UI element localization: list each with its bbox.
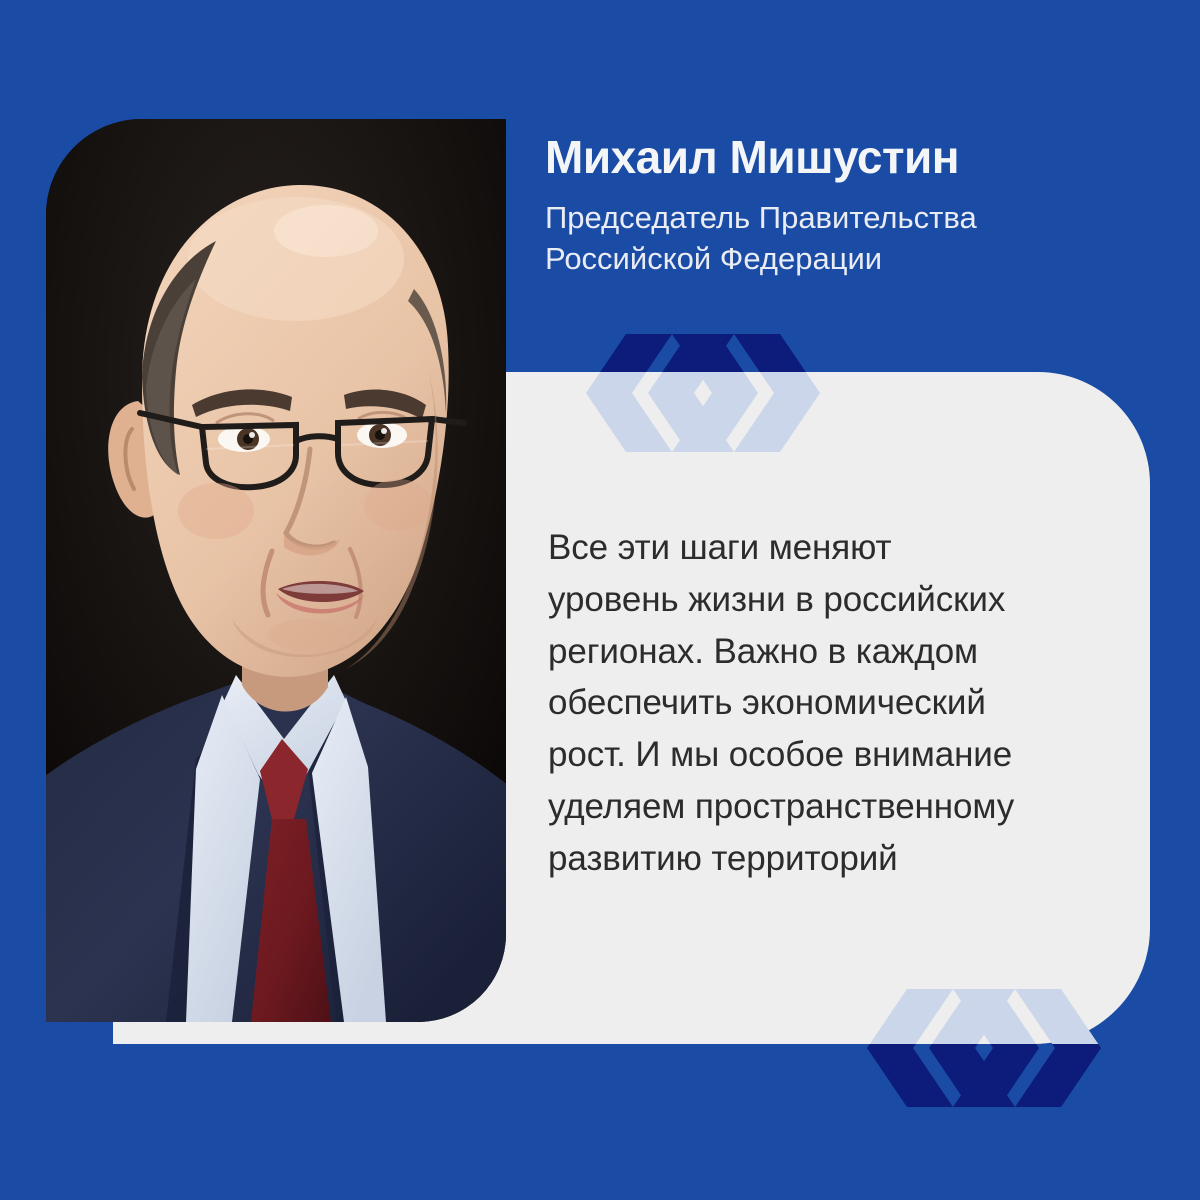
chevron-ornament-top [564,334,834,452]
quote-line-7: развитию территорий [548,833,1108,885]
person-role-line-1: Председатель Правительства [545,197,1145,238]
quote-line-4: обеспечить экономический [548,677,1108,729]
chevron-ornament-bottom [845,989,1115,1107]
quote-line-2: уровень жизни в российских [548,574,1108,626]
social-quote-card: Михаил Мишустин Председатель Правительст… [0,0,1200,1200]
person-role: Председатель Правительства Российской Фе… [545,197,1145,279]
person-role-line-2: Российской Федерации [545,238,1145,279]
quote-line-1: Все эти шаги меняют [548,522,1108,574]
portrait-photo [46,119,506,1022]
quote-line-6: уделяем пространственному [548,781,1108,833]
quote-line-3: регионах. Важно в каждом [548,626,1108,678]
quote-text: Все эти шаги меняют уровень жизни в росс… [548,522,1108,885]
quote-line-5: рост. И мы особое внимание [548,729,1108,781]
person-info: Михаил Мишустин Председатель Правительст… [545,132,1145,279]
person-name: Михаил Мишустин [545,132,1145,183]
